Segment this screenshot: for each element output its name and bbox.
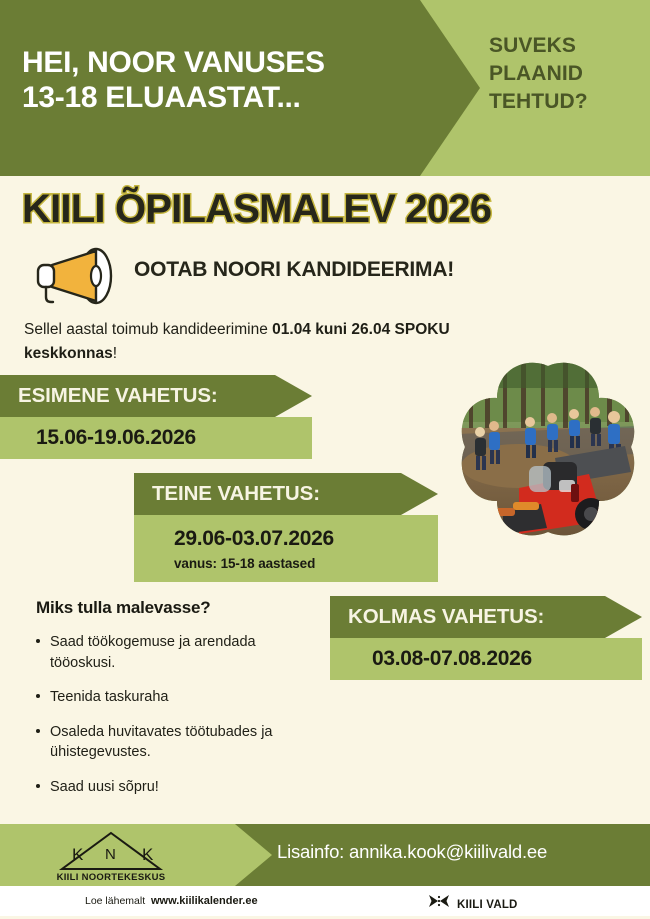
knk-logo-caption: KIILI NOORTEKESKUS: [57, 872, 166, 882]
benefit-item-4: Saad uusi sõpru!: [34, 777, 324, 798]
header-headline: HEI, NOOR VANUSES 13-18 ELUAASTAT...: [22, 45, 422, 115]
bottom-bar: Loe lähemalt www.kiilikalender.ee KIILI …: [0, 886, 650, 919]
read-more-line: Loe lähemalt www.kiilikalender.ee: [85, 895, 258, 907]
shift-2-age-note: vanus: 15-18 aastased: [174, 556, 438, 571]
kiili-vald-mark-icon: [428, 894, 450, 915]
benefits-section: Miks tulla malevasse? Saad töökogemuse j…: [34, 598, 324, 811]
application-info-text: Sellel aastal toimub kandideerimine 01.0…: [24, 318, 474, 366]
header-headline-line1: HEI, NOOR VANUSES: [22, 45, 422, 80]
kiili-noortekeskus-logo: K N K KIILI NOORTEKESKUS: [54, 828, 168, 882]
header-side-line2: PLAANID: [489, 60, 639, 88]
knk-logo-k-left: K: [72, 845, 84, 864]
lede-dates: 01.04 kuni 26.04: [272, 321, 390, 338]
website-link[interactable]: www.kiilikalender.ee: [151, 895, 258, 907]
megaphone-icon: [24, 247, 120, 305]
shift-3-dates: 03.08-07.08.2026: [372, 647, 642, 671]
read-more-label: Loe lähemalt: [85, 895, 145, 907]
lede-prefix: Sellel aastal toimub kandideerimine: [24, 321, 272, 338]
header-headline-line2: 13-18 ELUAASTAT...: [22, 80, 422, 115]
benefit-item-3: Osaleda huvitavates töötubades ja ühiste…: [34, 722, 324, 763]
tagline-text: OOTAB NOORI KANDIDEERIMA!: [134, 258, 454, 282]
lede-suffix: !: [113, 345, 117, 362]
shift-2-header: TEINE VAHETUS:: [134, 473, 438, 515]
tagline-row: OOTAB NOORI KANDIDEERIMA!: [24, 247, 624, 305]
shift-1-dates: 15.06-19.06.2026: [36, 426, 312, 450]
shift-2-dates: 29.06-03.07.2026: [174, 527, 438, 551]
header-banner: HEI, NOOR VANUSES 13-18 ELUAASTAT... SUV…: [0, 0, 650, 176]
knk-logo-n: N: [105, 846, 116, 863]
knk-logo-k-right: K: [142, 845, 154, 864]
kiili-vald-logo: KIILI VALD: [428, 894, 518, 915]
camp-photo: [459, 362, 637, 537]
shift-1-body: 15.06-19.06.2026: [0, 417, 312, 459]
benefits-title: Miks tulla malevasse?: [36, 598, 324, 618]
camp-photo-image: [459, 362, 637, 537]
benefit-item-2: Teenida taskuraha: [34, 687, 324, 708]
shift-3-header: KOLMAS VAHETUS:: [330, 596, 642, 638]
page-title: KIILI ÕPILASMALEV 2026: [22, 187, 642, 232]
poster: HEI, NOOR VANUSES 13-18 ELUAASTAT... SUV…: [0, 0, 650, 919]
kiili-vald-name: KIILI VALD: [457, 899, 518, 911]
shift-block-2: TEINE VAHETUS: 29.06-03.07.2026 vanus: 1…: [134, 473, 438, 582]
shift-2-body: 29.06-03.07.2026 vanus: 15-18 aastased: [134, 515, 438, 582]
shift-3-body: 03.08-07.08.2026: [330, 638, 642, 680]
shift-block-3: KOLMAS VAHETUS: 03.08-07.08.2026: [330, 596, 642, 680]
header-side-line1: SUVEKS: [489, 32, 639, 60]
header-side-question: SUVEKS PLAANID TEHTUD?: [489, 32, 639, 116]
contact-email-text[interactable]: Lisainfo: annika.kook@kiilivald.ee: [277, 841, 547, 863]
shift-block-1: ESIMENE VAHETUS: 15.06-19.06.2026: [0, 375, 312, 459]
shift-1-header: ESIMENE VAHETUS:: [0, 375, 312, 417]
benefit-item-1: Saad töökogemuse ja arendada tööoskusi.: [34, 632, 324, 673]
header-side-line3: TEHTUD?: [489, 88, 639, 116]
